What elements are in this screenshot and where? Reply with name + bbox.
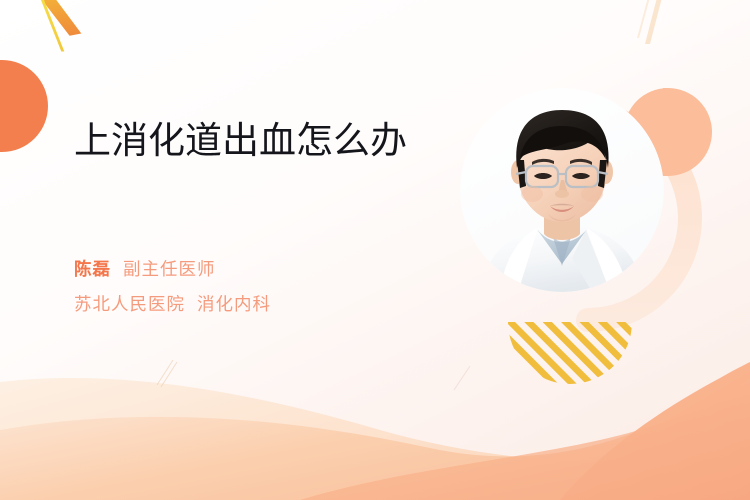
doctor-name: 陈磊 [74, 260, 111, 280]
cheek-left [521, 186, 543, 202]
doctor-portrait [460, 88, 664, 292]
text-block: 上消化道出血怎么办 陈磊副主任医师 苏北人民医院消化内科 [74, 118, 414, 164]
department-name: 消化内科 [197, 295, 271, 315]
portrait-illustration [460, 88, 664, 292]
page-title: 上消化道出血怎么办 [74, 118, 414, 164]
portrait-cluster [430, 60, 750, 390]
credentials-row-hospital: 苏北人民医院消化内科 [74, 288, 434, 323]
credentials-row-doctor: 陈磊副主任医师 [74, 253, 434, 288]
nose-tip [555, 190, 569, 198]
cheek-right [581, 186, 603, 202]
doctor-info-card: 上消化道出血怎么办 陈磊副主任医师 苏北人民医院消化内科 [0, 0, 750, 500]
credentials-block: 陈磊副主任医师 苏北人民医院消化内科 [74, 253, 434, 323]
doctor-title: 副主任医师 [123, 260, 216, 280]
hospital-name: 苏北人民医院 [74, 295, 185, 315]
